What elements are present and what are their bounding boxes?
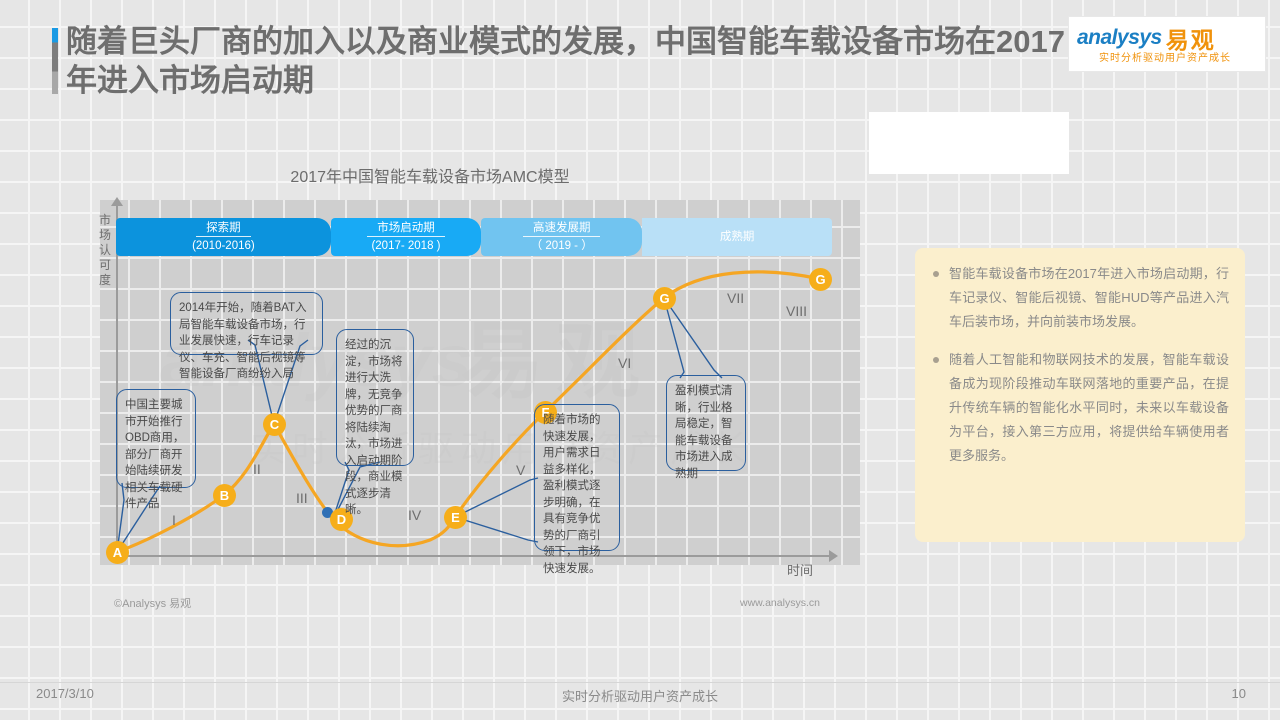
callout-g: 盈利模式清晰，行业格局稳定，智能车载设备市场进入成熟期 [666, 375, 746, 471]
y-axis [116, 204, 118, 556]
phase-bar-3: 高速发展期（ 2019 - ） [481, 218, 642, 256]
segment-label-i: I [172, 512, 176, 528]
chart-credit-right: www.analysys.cn [740, 597, 820, 609]
x-axis-label: 时间 [787, 560, 813, 579]
phase-years: (2010-2016) [192, 237, 255, 253]
segment-label-viii: VIII [786, 303, 807, 319]
segment-label-v: V [516, 462, 525, 478]
phase-name: 市场启动期 [367, 221, 445, 237]
phase-years: (2017- 2018 ) [371, 237, 440, 253]
x-axis-arrow-icon [829, 550, 838, 562]
page-header: 随着巨头厂商的加入以及商业模式的发展，中国智能车载设备市场在2017年进入市场启… [0, 0, 1280, 118]
curve-marker-b: B [213, 484, 236, 507]
blank-white-box [869, 112, 1069, 174]
chart-title: 2017年中国智能车载设备市场AMC模型 [0, 163, 860, 187]
phase-bar-2: 市场启动期(2017- 2018 ) [331, 218, 481, 256]
curve-marker-e: E [444, 506, 467, 529]
chart-credit-left: ©Analysys 易观 [114, 595, 191, 611]
logo-en-text: analysys [1077, 26, 1162, 50]
phase-name: 探索期 [196, 221, 251, 237]
insights-list: 智能车载设备市场在2017年进入市场启动期，行车记录仪、智能后视镜、智能HUD等… [931, 262, 1229, 468]
segment-label-ii: II [253, 461, 261, 477]
logo-tagline: 实时分析驱动用户资产成长 [1099, 49, 1231, 64]
curve-marker-c: C [263, 413, 286, 436]
footer-divider [0, 682, 1280, 683]
segment-label-iv: IV [408, 507, 421, 523]
callout-f: 随着市场的快速发展，用户需求日益多样化，盈利模式逐步明确，在具有竞争优势的厂商引… [534, 404, 620, 551]
y-axis-label: 市场认可度 [97, 213, 113, 288]
analysys-logo: analysys 易观 实时分析驱动用户资产成长 [1068, 16, 1266, 72]
curve-marker-a: A [106, 541, 129, 564]
footer-page-number: 10 [1232, 686, 1246, 701]
phase-years: （ 2019 - ） [531, 237, 593, 253]
callout-a: 中国主要城市开始推行OBD商用，部分厂商开始陆续研发相关车载硬件产品 [116, 389, 196, 488]
insight-item: 随着人工智能和物联网技术的发展，智能车载设备成为现阶段推动车联网落地的重要产品，… [931, 348, 1229, 468]
y-axis-arrow-icon [111, 197, 123, 206]
phase-name: 成熟期 [710, 230, 765, 245]
footer-slogan: 实时分析驱动用户资产成长 [0, 686, 1280, 705]
insights-panel: 智能车载设备市场在2017年进入市场启动期，行车记录仪、智能后视镜、智能HUD等… [915, 248, 1245, 542]
segment-label-vi: VI [618, 355, 631, 371]
callout-d: 经过的沉淀，市场将进行大洗牌，无竞争优势的厂商将陆续淘汰，市场进入启动期阶段，商… [336, 329, 414, 466]
insight-item: 智能车载设备市场在2017年进入市场启动期，行车记录仪、智能后视镜、智能HUD等… [931, 262, 1229, 334]
phase-bar-group: 探索期(2010-2016)市场启动期(2017- 2018 )高速发展期（ 2… [116, 218, 832, 256]
page-footer: 2017/3/10 实时分析驱动用户资产成长 10 [0, 686, 1280, 716]
phase-bar-1: 探索期(2010-2016) [116, 218, 331, 256]
curve-marker-g2: G [809, 268, 832, 291]
curve-marker-g1: G [653, 287, 676, 310]
segment-label-vii: VII [727, 290, 744, 306]
page-title: 随着巨头厂商的加入以及商业模式的发展，中国智能车载设备市场在2017年进入市场启… [66, 22, 1066, 100]
phase-bar-4: 成熟期 [642, 218, 832, 256]
callout-c: 2014年开始，随着BAT入局智能车载设备市场，行业发展快速，行车记录仪、车充、… [170, 292, 323, 355]
phase-name: 高速发展期 [523, 221, 601, 237]
segment-label-iii: III [296, 490, 308, 506]
title-accent-bar [52, 28, 58, 94]
x-axis [116, 555, 832, 557]
